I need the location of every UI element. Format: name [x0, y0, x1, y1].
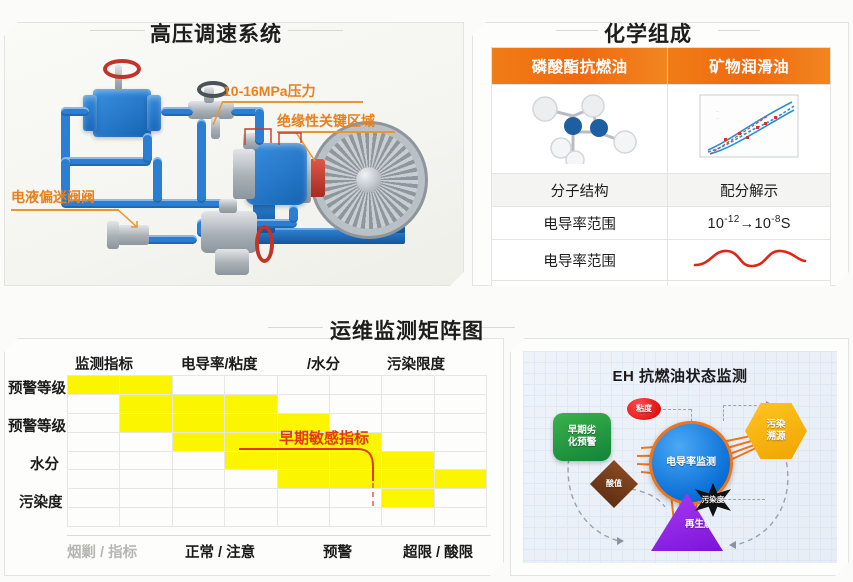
- dash-center-up: [723, 405, 724, 421]
- matrix-cell: [68, 470, 120, 489]
- node-yellow-label-1: 污染: [766, 419, 785, 431]
- matrix-cell: [382, 489, 434, 508]
- matrix-cell: [173, 470, 225, 489]
- matrix-panel-title: 运维监测矩阵图: [330, 315, 484, 345]
- title-rule-left: [90, 30, 145, 31]
- node-early-degradation-warning[interactable]: 早期劣 化预警: [553, 413, 611, 461]
- formula-base-2: 10: [754, 216, 771, 232]
- matrix-cell: [120, 376, 172, 395]
- chem-row-images: ......: [492, 85, 831, 174]
- node-green-label-1: 早期劣: [568, 425, 597, 437]
- chem-row-degradation: 劣化产物: [492, 281, 831, 326]
- matrix-cell: [435, 395, 487, 414]
- matrix-cell: [278, 376, 330, 395]
- matrix-cell: [382, 452, 434, 471]
- molecule-diagram-cell: [492, 85, 668, 174]
- callout-pressure: 10-16MPa压力: [223, 81, 316, 101]
- machine-panel: 10-16MPa压力 绝缘性关键区域 电液偏迷阀阀: [4, 22, 464, 286]
- matrix-cell: [173, 395, 225, 414]
- node-green-label-2: 化预警: [568, 437, 597, 449]
- pipe-left-top: [61, 107, 89, 116]
- machine-panel-title: 高压调速系统: [150, 18, 282, 48]
- matrix-cell: [173, 452, 225, 471]
- matrix-cell: [120, 508, 172, 527]
- matrix-cell: [382, 414, 434, 433]
- callout-valve-underline: [11, 209, 119, 211]
- matrix-grid-wrap: 早期敏感指标: [67, 375, 487, 527]
- matrix-axis-rule: [67, 535, 491, 536]
- callout-valve: 电液偏迷阀阀: [11, 187, 95, 207]
- matrix-cell: [435, 508, 487, 527]
- matrix-cell: [225, 376, 277, 395]
- pipe-mid-drop: [153, 157, 162, 203]
- eh-canvas: EH 抗燃油状态监测: [523, 351, 837, 563]
- matrix-annotation-leader: [237, 447, 387, 511]
- chem-cell-conductivity-formula: 10-12→10-8S: [668, 207, 831, 240]
- formula-exp-2: -8: [771, 214, 781, 225]
- matrix-cell: [382, 433, 434, 452]
- matrix-row-header-0: 预警等级: [8, 377, 66, 398]
- matrix-cell: [382, 470, 434, 489]
- pipe-mid-1: [61, 157, 151, 166]
- matrix-cell: [278, 395, 330, 414]
- matrix-cell: [68, 433, 120, 452]
- matrix-cell: [435, 433, 487, 452]
- sludge-and-particles-icon: [694, 286, 804, 316]
- formula-exp-1: -12: [724, 214, 739, 225]
- matrix-cell: [68, 414, 120, 433]
- matrix-cell: [120, 470, 172, 489]
- matrix-cell: [435, 489, 487, 508]
- matrix-col-header-1: 电导率/粘度: [181, 353, 258, 374]
- arrow-green-to-purple: [617, 537, 624, 545]
- title-rule-right: [288, 30, 343, 31]
- chem-row-structure: 分子结构 配分解示: [492, 174, 831, 207]
- eh-diagram-title: EH 抗燃油状态监测: [523, 365, 837, 386]
- callout-valve-leader: [117, 209, 141, 238]
- matrix-axis-label-3: 超限 / 酸限: [403, 541, 473, 562]
- matrix-row-header-3: 污染度: [19, 491, 63, 512]
- matrix-row-header-1: 预警等级: [8, 415, 66, 436]
- matrix-cell: [382, 508, 434, 527]
- node-brown-label: 酸值: [606, 478, 622, 490]
- chem-cell-conductivity-label-1: 电导率范围: [492, 207, 668, 240]
- formula-arrow: →: [740, 216, 755, 232]
- matrix-cell: [120, 395, 172, 414]
- matrix-row-header-2: 水分: [30, 453, 59, 474]
- matrix-col-header-0: 监测指标: [75, 353, 133, 374]
- chem-header-left: 磷酸酯抗燃油: [492, 48, 668, 85]
- pipe-right-drop: [197, 119, 206, 203]
- formula-unit: S: [781, 216, 791, 232]
- chem-panel-title: 化学组成: [604, 18, 692, 48]
- node-viscosity[interactable]: 粘度: [627, 398, 661, 420]
- line-chart-thumbnail-icon: ......: [694, 92, 804, 162]
- svg-text:...: ...: [716, 108, 719, 113]
- matrix-cell: [330, 376, 382, 395]
- callout-pressure-underline: [223, 101, 363, 103]
- node-red-label: 粘度: [636, 403, 652, 415]
- pump-sensor-tubes: [241, 123, 311, 154]
- matrix-cell: [382, 376, 434, 395]
- svg-text:...: ...: [716, 115, 719, 120]
- matrix-col-header-3: 污染限度: [387, 353, 445, 374]
- chem-cell-wave: [668, 240, 831, 281]
- control-valve-block: [93, 89, 151, 137]
- matrix-cell: [120, 452, 172, 471]
- matrix-cell: [382, 395, 434, 414]
- matrix-cell: [435, 452, 487, 471]
- pipe-to-base: [289, 205, 298, 223]
- matrix-cell: [173, 433, 225, 452]
- chem-row-conductivity-2: 电导率范围: [492, 240, 831, 281]
- gate-valve-bonnet: [219, 199, 237, 213]
- matrix-cell: [173, 414, 225, 433]
- matrix-cell: [68, 376, 120, 395]
- matrix-col-header-2: /水分: [307, 353, 340, 374]
- chem-row-conductivity-1: 电导率范围 10-12→10-8S: [492, 207, 831, 240]
- matrix-cell: [173, 376, 225, 395]
- node-yellow-label-2: 溯源: [766, 431, 785, 443]
- chem-cell-degradation-label: 劣化产物: [492, 281, 668, 326]
- chem-panel: 磷酸酯抗燃油 矿物润滑油: [472, 22, 849, 286]
- matrix-cell: [435, 376, 487, 395]
- matrix-cell: [435, 470, 487, 489]
- chem-header-right: 矿物润滑油: [668, 48, 831, 85]
- node-star-label: 污染度: [702, 494, 725, 506]
- matrix-cell: [120, 414, 172, 433]
- mineral-oil-chart-cell: ......: [668, 85, 831, 174]
- matrix-panel: 监测指标 电导率/粘度 /水分 污染限度 预警等级 预警等级 水分 污染度 早期…: [4, 338, 504, 576]
- pump-inlet-housing: [233, 149, 255, 199]
- chem-cell-degradation-icons: [668, 281, 831, 326]
- matrix-cell: [225, 414, 277, 433]
- red-handwheel-bottom: [255, 225, 274, 263]
- pipe-mid-riser: [143, 133, 152, 163]
- matrix-cell: [225, 395, 277, 414]
- matrix-cell: [68, 489, 120, 508]
- matrix-axis-label-1: 正常 / 注意: [185, 541, 255, 562]
- arrow-to-purple-right: [729, 541, 736, 549]
- matrix-axis-label-2: 预警: [323, 541, 352, 562]
- chem-cell-structure-label: 分子结构: [492, 174, 668, 207]
- matrix-cell: [120, 489, 172, 508]
- matrix-cell: [435, 414, 487, 433]
- matrix-cell: [173, 489, 225, 508]
- matrix-cell: [68, 508, 120, 527]
- poster-root: 高压调速系统: [0, 0, 853, 582]
- matrix-axis-label-0: 烟剿 / 指标: [67, 541, 137, 562]
- matrix-cell: [120, 433, 172, 452]
- chem-cell-structure-value: 配分解示: [668, 174, 831, 207]
- matrix-cell: [173, 508, 225, 527]
- gate-valve-outlet: [215, 249, 249, 275]
- turbine-rotor: [320, 131, 418, 229]
- eh-panel: EH 抗燃油状态监测: [510, 338, 849, 576]
- pipe-top-1: [161, 107, 193, 116]
- callout-pressure-leader: [211, 101, 229, 132]
- node-center-label: 电导率监测: [666, 457, 716, 469]
- red-wave-curve-icon: [689, 245, 809, 271]
- gate-valve-body: [201, 211, 257, 253]
- chem-title-rule-left: [556, 30, 598, 31]
- matrix-cell: [68, 395, 120, 414]
- matrix-annotation: 早期敏感指标: [279, 427, 369, 448]
- matrix-title-rule-left: [268, 327, 323, 328]
- formula-base-1: 10: [708, 216, 725, 232]
- molecule-icon: [515, 90, 645, 164]
- chem-table: 磷酸酯抗燃油 矿物润滑油: [491, 47, 831, 326]
- chem-table-header-row: 磷酸酯抗燃油 矿物润滑油: [492, 48, 831, 85]
- matrix-cell: [68, 452, 120, 471]
- chem-title-rule-right: [718, 30, 760, 31]
- matrix-cell: [330, 395, 382, 414]
- chem-cell-conductivity-label-2: 电导率范围: [492, 240, 668, 281]
- red-handwheel-top: [103, 59, 141, 79]
- valve-block-flange-right: [147, 95, 161, 131]
